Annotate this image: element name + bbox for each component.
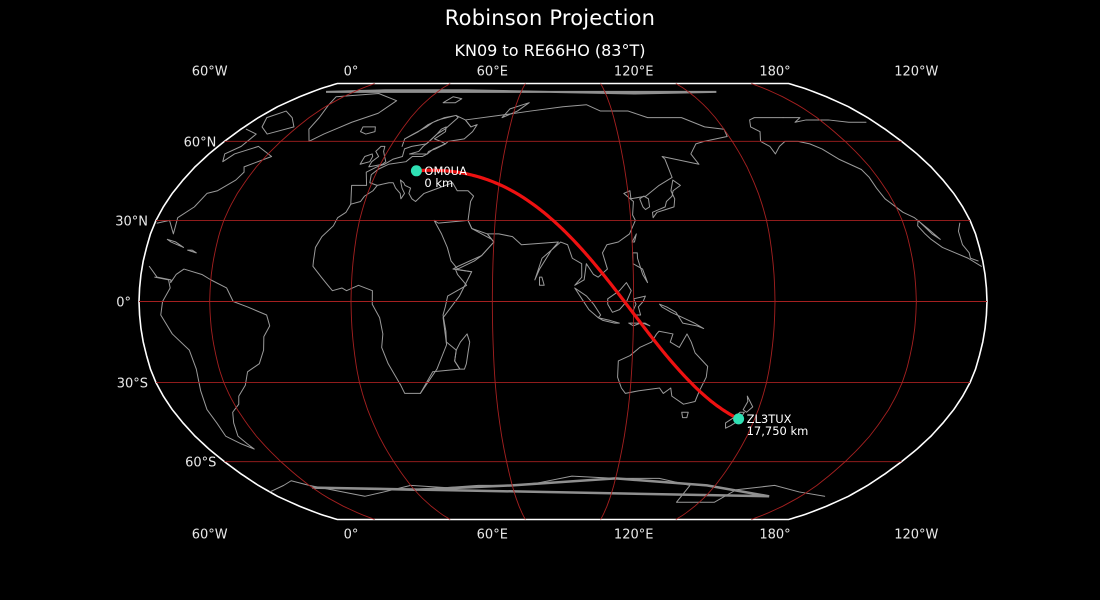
- robinson-map: OM0UA0 kmZL3TUX17,750 km60°W60°W0°0°60°E…: [0, 0, 1100, 600]
- coastline: [598, 318, 619, 323]
- coastline: [629, 323, 641, 326]
- coastline: [188, 250, 197, 253]
- great-circle-path: [416, 170, 738, 419]
- coastline: [575, 288, 601, 318]
- coastline: [270, 481, 309, 492]
- lon-tick-bottom: 180°: [759, 528, 790, 543]
- map-marker-zl3tux[interactable]: ZL3TUX17,750 km: [733, 412, 808, 438]
- coastline: [539, 277, 544, 285]
- lat-tick-left: 60°S: [185, 456, 216, 471]
- lat-tick-left: 30°S: [117, 377, 148, 392]
- lon-tick-bottom: 120°E: [614, 528, 654, 543]
- coastline: [634, 296, 646, 315]
- coastline: [660, 304, 704, 328]
- marker-distance-label: 0 km: [424, 176, 453, 190]
- coastline: [434, 220, 494, 269]
- coastline: [618, 331, 708, 404]
- lon-tick-top: 60°E: [477, 65, 508, 80]
- lon-tick-top: 120°E: [614, 65, 654, 80]
- coastline: [361, 127, 376, 134]
- antarctic-ice-edge: [312, 478, 769, 496]
- coastline: [455, 334, 470, 369]
- lon-tick-bottom: 60°E: [477, 528, 508, 543]
- lon-tick-top: 0°: [344, 65, 359, 80]
- lat-tick-left: 30°N: [115, 214, 148, 229]
- coastline: [783, 118, 866, 123]
- coastline: [465, 105, 727, 286]
- coastline: [443, 97, 462, 103]
- lon-tick-top: 120°W: [894, 65, 938, 80]
- lon-tick-top: 60°W: [192, 65, 228, 80]
- marker-dot[interactable]: [733, 413, 744, 424]
- marker-dot[interactable]: [411, 165, 422, 176]
- coastline: [167, 239, 183, 247]
- lat-tick-left: 0°: [116, 296, 131, 311]
- coastline: [682, 412, 688, 417]
- coastline: [369, 146, 386, 166]
- coastline: [632, 234, 636, 242]
- coastline: [640, 196, 650, 209]
- coastline: [309, 94, 397, 142]
- marker-distance-label: 17,750 km: [747, 424, 809, 438]
- map-canvas: Robinson Projection KN09 to RE66HO (83°T…: [0, 0, 1100, 600]
- coastline: [262, 111, 294, 134]
- map-content: [139, 84, 987, 520]
- coastline: [652, 180, 680, 218]
- lon-tick-bottom: 120°W: [894, 528, 938, 543]
- lon-tick-bottom: 0°: [344, 528, 359, 543]
- coastline: [743, 396, 753, 412]
- map-marker-om0ua[interactable]: OM0UA0 km: [411, 164, 467, 190]
- coastline: [633, 253, 648, 283]
- lon-tick-top: 180°: [759, 65, 790, 80]
- coastline: [750, 118, 982, 267]
- coastline: [410, 127, 447, 154]
- lat-tick-left: 60°N: [184, 135, 217, 150]
- lon-tick-bottom: 60°W: [192, 528, 228, 543]
